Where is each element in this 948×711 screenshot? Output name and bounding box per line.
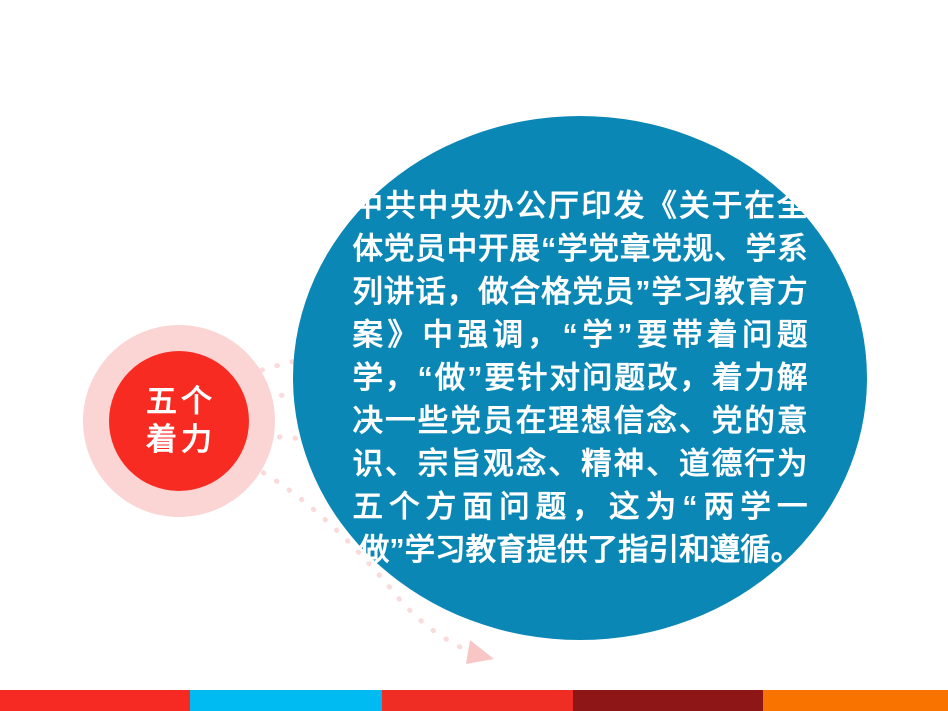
segment-cyan <box>190 690 382 711</box>
footer-color-bar <box>0 690 948 711</box>
segment-darkred <box>573 690 763 711</box>
five-focuses-badge-inner: 五个 着力 <box>109 351 249 491</box>
five-focuses-badge[interactable]: 五个 着力 <box>83 325 275 517</box>
segment-red <box>0 690 190 711</box>
blue-content-text: 中共中央办公厅印发《关于在全体党员中开展“学党章党规、学系列讲话，做合格党员”学… <box>353 185 808 572</box>
slide-canvas: 中共中央办公厅印发《关于在全体党员中开展“学党章党规、学系列讲话，做合格党员”学… <box>0 0 948 711</box>
blue-content-circle: 中共中央办公厅印发《关于在全体党员中开展“学党章党规、学系列讲话，做合格党员”学… <box>293 116 867 640</box>
connector-arrowhead <box>466 640 494 664</box>
segment-orange <box>763 690 948 711</box>
badge-label-line-1: 五个 <box>142 383 216 421</box>
badge-label-line-2: 着力 <box>142 421 216 459</box>
segment-red-2 <box>382 690 573 711</box>
